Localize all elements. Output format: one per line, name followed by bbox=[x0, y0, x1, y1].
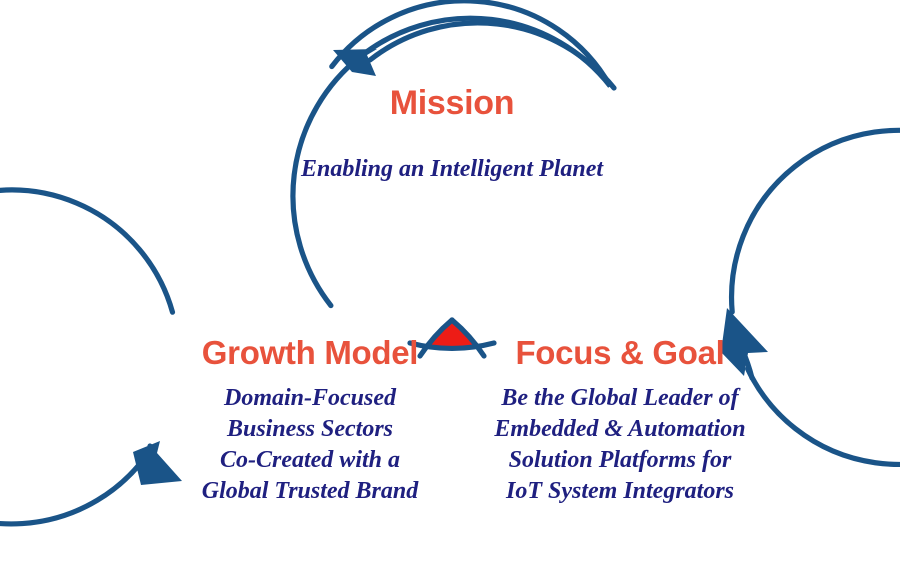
mission-body-line: Enabling an Intelligent Planet bbox=[252, 154, 652, 185]
growth-model-body-line: Business Sectors bbox=[148, 414, 472, 445]
focus-goal-body-line: IoT System Integrators bbox=[460, 476, 780, 507]
venn-diagram-canvas: Mission Enabling an Intelligent Planet G… bbox=[0, 0, 900, 588]
focus-goal-heading: Focus & Goal bbox=[460, 336, 780, 371]
focus-goal-body-line: Be the Global Leader of bbox=[460, 383, 780, 414]
growth-model-body-line: Global Trusted Brand bbox=[148, 476, 472, 507]
mission-heading: Mission bbox=[252, 86, 652, 122]
growth-model-body: Domain-Focused Business Sectors Co-Creat… bbox=[148, 383, 472, 507]
venn-section-focus-goal: Focus & Goal Be the Global Leader of Emb… bbox=[460, 336, 780, 507]
venn-text-layer: Mission Enabling an Intelligent Planet G… bbox=[0, 0, 900, 588]
growth-model-body-line: Domain-Focused bbox=[148, 383, 472, 414]
focus-goal-body-line: Solution Platforms for bbox=[460, 445, 780, 476]
venn-section-mission: Mission Enabling an Intelligent Planet bbox=[252, 86, 652, 185]
mission-body: Enabling an Intelligent Planet bbox=[252, 154, 652, 185]
growth-model-heading: Growth Model bbox=[148, 336, 472, 371]
focus-goal-body-line: Embedded & Automation bbox=[460, 414, 780, 445]
focus-goal-body: Be the Global Leader of Embedded & Autom… bbox=[460, 383, 780, 507]
growth-model-body-line: Co-Created with a bbox=[148, 445, 472, 476]
venn-section-growth-model: Growth Model Domain-Focused Business Sec… bbox=[148, 336, 472, 507]
